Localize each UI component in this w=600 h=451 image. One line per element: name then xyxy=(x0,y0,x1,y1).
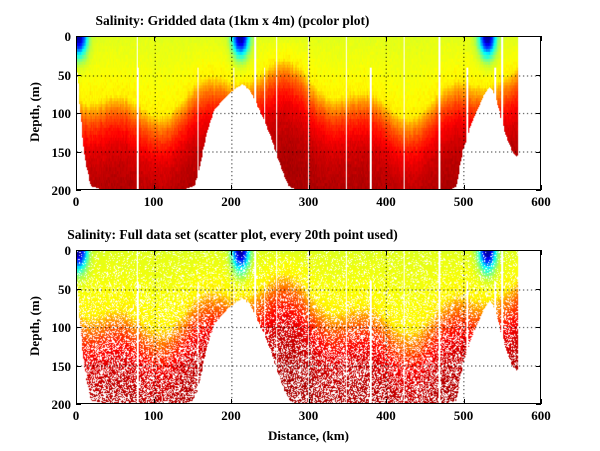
salinity-pcolor-plot xyxy=(77,37,540,189)
y-tick-label-bottom-100: 100 xyxy=(35,321,71,334)
x-tick-label-top-600: 600 xyxy=(521,195,561,208)
y-tick-mark xyxy=(536,113,541,114)
x-tick-mark xyxy=(541,250,542,255)
x-tick-label-bottom-200: 200 xyxy=(211,409,251,422)
y-tick-mark xyxy=(536,327,541,328)
x-tick-label-bottom-100: 100 xyxy=(134,409,174,422)
y-tick-mark xyxy=(76,113,81,114)
y-tick-label-bottom-0: 0 xyxy=(35,244,71,257)
x-tick-mark xyxy=(309,399,310,404)
x-tick-mark xyxy=(464,250,465,255)
axes-frame-bottom xyxy=(76,250,541,404)
y-tick-mark xyxy=(536,404,541,405)
x-tick-mark xyxy=(541,399,542,404)
x-tick-mark xyxy=(231,250,232,255)
x-tick-mark xyxy=(309,185,310,190)
salinity-scatter-plot xyxy=(77,251,540,403)
x-tick-mark xyxy=(386,399,387,404)
axes-frame-top xyxy=(76,36,541,190)
plot-panel-top xyxy=(76,36,541,190)
x-tick-mark xyxy=(154,185,155,190)
x-axis-label: Distance, (km) xyxy=(76,428,541,444)
y-tick-label-bottom-150: 150 xyxy=(35,360,71,373)
y-tick-label-top-150: 150 xyxy=(35,146,71,159)
y-tick-mark xyxy=(536,152,541,153)
y-tick-label-top-50: 50 xyxy=(35,69,71,82)
y-tick-mark xyxy=(536,366,541,367)
x-tick-mark xyxy=(231,399,232,404)
y-tick-label-top-0: 0 xyxy=(35,30,71,43)
x-tick-label-bottom-400: 400 xyxy=(366,409,406,422)
x-tick-mark xyxy=(76,250,77,255)
x-tick-mark xyxy=(464,185,465,190)
x-tick-mark xyxy=(76,399,77,404)
x-tick-mark xyxy=(309,36,310,41)
y-tick-mark xyxy=(536,289,541,290)
x-tick-mark xyxy=(76,36,77,41)
x-tick-mark xyxy=(231,36,232,41)
y-tick-mark xyxy=(536,190,541,191)
x-tick-mark xyxy=(541,36,542,41)
x-tick-label-top-100: 100 xyxy=(134,195,174,208)
y-tick-mark xyxy=(76,190,81,191)
figure-canvas: Salinity: Gridded data (1km x 4m) (pcolo… xyxy=(0,0,600,451)
panel-title-top: Salinity: Gridded data (1km x 4m) (pcolo… xyxy=(0,13,465,29)
x-tick-mark xyxy=(154,36,155,41)
x-tick-mark xyxy=(386,250,387,255)
panel-title-bottom: Salinity: Full data set (scatter plot, e… xyxy=(0,227,465,243)
x-tick-mark xyxy=(464,36,465,41)
y-tick-mark xyxy=(76,404,81,405)
x-tick-mark xyxy=(541,185,542,190)
y-tick-label-top-100: 100 xyxy=(35,107,71,120)
x-tick-label-bottom-500: 500 xyxy=(444,409,484,422)
x-tick-mark xyxy=(154,399,155,404)
x-tick-label-top-300: 300 xyxy=(289,195,329,208)
y-tick-mark xyxy=(76,366,81,367)
y-tick-mark xyxy=(76,289,81,290)
y-tick-mark xyxy=(536,75,541,76)
x-tick-label-bottom-300: 300 xyxy=(289,409,329,422)
x-tick-mark xyxy=(231,185,232,190)
x-tick-label-top-400: 400 xyxy=(366,195,406,208)
x-tick-label-top-500: 500 xyxy=(444,195,484,208)
x-tick-label-bottom-0: 0 xyxy=(56,409,96,422)
x-tick-mark xyxy=(386,36,387,41)
x-tick-label-top-200: 200 xyxy=(211,195,251,208)
x-tick-mark xyxy=(154,250,155,255)
y-tick-mark xyxy=(76,75,81,76)
y-tick-label-bottom-50: 50 xyxy=(35,283,71,296)
x-tick-label-top-0: 0 xyxy=(56,195,96,208)
plot-panel-bottom xyxy=(76,250,541,404)
y-tick-mark xyxy=(76,327,81,328)
x-tick-label-bottom-600: 600 xyxy=(521,409,561,422)
x-tick-mark xyxy=(464,399,465,404)
x-tick-mark xyxy=(386,185,387,190)
x-tick-mark xyxy=(309,250,310,255)
y-tick-mark xyxy=(76,152,81,153)
x-tick-mark xyxy=(76,185,77,190)
